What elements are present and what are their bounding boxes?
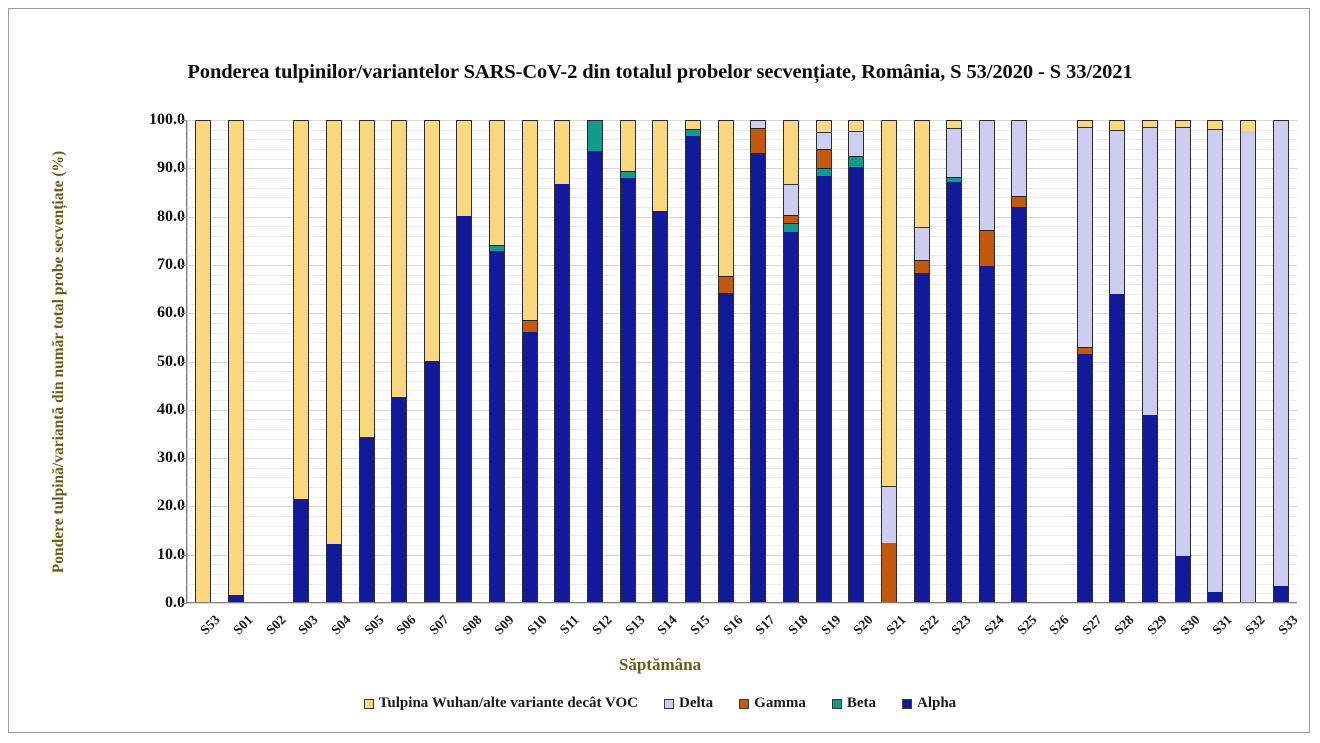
legend-item-wuhan[interactable]: Tulpina Wuhan/alte variante decât VOC	[364, 695, 638, 712]
bar-column	[1068, 120, 1101, 603]
legend-label: Gamma	[754, 695, 806, 712]
y-tick-mark	[181, 120, 187, 121]
stacked-bar[interactable]	[1240, 120, 1256, 603]
bar-segment-gamma	[784, 215, 798, 223]
bar-segment-gamma	[523, 320, 537, 332]
bar-column	[938, 120, 971, 603]
y-tick-mark	[181, 265, 187, 266]
stacked-bar[interactable]	[620, 120, 636, 603]
bar-segment-tulpina-wuhan	[882, 120, 896, 486]
bar-segment-beta	[784, 223, 798, 231]
stacked-bar[interactable]	[587, 120, 603, 603]
legend-label: Tulpina Wuhan/alte variante decât VOC	[379, 695, 638, 712]
bar-column	[579, 120, 612, 603]
stacked-bar[interactable]	[718, 120, 734, 603]
bar-segment-alpha	[980, 266, 994, 602]
bar-segment-delta	[1274, 120, 1288, 586]
bar-segment-beta	[588, 120, 602, 151]
stacked-bar[interactable]	[685, 120, 701, 603]
bar-segment-alpha	[719, 293, 733, 602]
bar-segment-alpha	[1274, 586, 1288, 602]
bar-column	[1134, 120, 1167, 603]
bar-segment-delta	[849, 131, 863, 157]
bar-segment-beta	[621, 171, 635, 179]
bar-segment-delta	[1241, 131, 1255, 602]
bar-column	[1264, 120, 1297, 603]
bar-segment-delta	[1208, 129, 1222, 592]
bar-column	[873, 120, 906, 603]
bar-segment-delta	[751, 120, 765, 128]
stacked-bar[interactable]	[979, 120, 995, 603]
bar-segment-tulpina-wuhan	[1110, 120, 1124, 130]
bar-column	[448, 120, 481, 603]
bar-segment-tulpina-wuhan	[1176, 120, 1190, 127]
bar-segment-alpha	[523, 332, 537, 602]
legend-swatch-icon	[739, 699, 749, 709]
legend-label: Alpha	[917, 695, 956, 712]
bar-segment-alpha	[621, 178, 635, 602]
bar-segment-gamma	[1012, 196, 1026, 207]
bar-segment-tulpina-wuhan	[849, 120, 863, 131]
bar-segment-gamma	[1078, 347, 1092, 355]
bar-segment-alpha	[360, 437, 374, 602]
y-tick-label: 40.0	[115, 401, 185, 419]
bar-segment-alpha	[1012, 207, 1026, 602]
legend-swatch-icon	[832, 699, 842, 709]
bar-segment-delta	[784, 184, 798, 215]
bar-segment-alpha	[751, 153, 765, 602]
stacked-bar[interactable]	[1011, 120, 1027, 603]
bar-segment-tulpina-wuhan	[1241, 120, 1255, 131]
bar-column	[1232, 120, 1265, 603]
bar-segment-alpha	[457, 216, 471, 602]
legend-item-gamma[interactable]: Gamma	[739, 695, 806, 712]
y-tick-mark	[181, 458, 187, 459]
bar-segment-alpha	[653, 211, 667, 602]
bar-column	[1101, 120, 1134, 603]
y-tick-label: 100.0	[115, 111, 185, 129]
bar-segment-tulpina-wuhan	[392, 120, 406, 397]
bar-segment-tulpina-wuhan	[817, 120, 831, 132]
stacked-bar[interactable]	[326, 120, 342, 603]
y-tick-label: 60.0	[115, 304, 185, 322]
stacked-bar[interactable]	[195, 120, 211, 603]
bar-segment-delta	[1143, 127, 1157, 415]
bar-column	[1166, 120, 1199, 603]
bar-segment-alpha	[1110, 294, 1124, 602]
stacked-bar[interactable]	[1273, 120, 1289, 603]
y-tick-label: 80.0	[115, 208, 185, 226]
bar-segment-alpha	[947, 182, 961, 602]
bar-segment-tulpina-wuhan	[196, 121, 210, 602]
y-tick-label: 90.0	[115, 159, 185, 177]
bar-segment-delta	[980, 120, 994, 230]
bar-segment-gamma	[817, 149, 831, 167]
bar-segment-alpha	[588, 151, 602, 602]
legend-swatch-icon	[902, 699, 912, 709]
bar-segment-alpha	[1176, 556, 1190, 602]
stacked-bar[interactable]	[848, 120, 864, 603]
bar-segment-tulpina-wuhan	[621, 120, 635, 171]
y-tick-label: 20.0	[115, 497, 185, 515]
bar-segment-alpha	[490, 251, 504, 602]
bar-segment-alpha	[229, 595, 243, 602]
bar-segment-beta	[849, 156, 863, 167]
stacked-bar[interactable]	[652, 120, 668, 603]
bar-segment-delta	[915, 227, 929, 260]
chart-legend: Tulpina Wuhan/alte variante decât VOCDel…	[9, 695, 1311, 712]
bar-segment-alpha	[392, 397, 406, 602]
bar-column	[350, 120, 383, 603]
bar-column	[1003, 120, 1036, 603]
bar-segment-tulpina-wuhan	[490, 120, 504, 245]
bar-segment-alpha	[555, 184, 569, 602]
bar-segment-tulpina-wuhan	[523, 120, 537, 320]
y-tick-label: 30.0	[115, 449, 185, 467]
y-tick-label: 70.0	[115, 256, 185, 274]
bar-segment-tulpina-wuhan	[425, 120, 439, 361]
y-axis-label: Pondere tulpină/variantă din număr total…	[47, 142, 71, 582]
y-tick-mark	[181, 362, 187, 363]
y-tick-mark	[181, 217, 187, 218]
y-tick-mark	[181, 603, 187, 604]
legend-label: Delta	[679, 695, 713, 712]
bar-segment-delta	[882, 486, 896, 543]
bar-segment-tulpina-wuhan	[1078, 120, 1092, 127]
bar-segment-alpha	[817, 176, 831, 602]
bar-column	[807, 120, 840, 603]
stacked-bar[interactable]	[1175, 120, 1191, 603]
bar-column	[742, 120, 775, 603]
bar-segment-beta	[817, 168, 831, 176]
bar-column	[775, 120, 808, 603]
bar-column	[220, 120, 253, 603]
y-tick-label: 0.0	[115, 594, 185, 612]
bar-segment-tulpina-wuhan	[1143, 120, 1157, 127]
stacked-bar[interactable]	[881, 120, 897, 603]
bar-segment-delta	[947, 128, 961, 177]
legend-item-beta[interactable]: Beta	[832, 695, 876, 712]
bar-column	[1036, 120, 1069, 603]
stacked-bar[interactable]	[424, 120, 440, 603]
chart-title: Ponderea tulpinilor/variantelor SARS-CoV…	[9, 61, 1311, 84]
x-axis-label: Săptămâna	[9, 655, 1311, 675]
bar-segment-tulpina-wuhan	[457, 120, 471, 216]
stacked-bar[interactable]	[228, 120, 244, 603]
bar-segment-gamma	[719, 276, 733, 292]
bar-column	[383, 120, 416, 603]
bar-segment-tulpina-wuhan	[653, 120, 667, 211]
bar-segment-alpha	[425, 361, 439, 602]
stacked-bar[interactable]	[456, 120, 472, 603]
bar-segment-tulpina-wuhan	[1208, 120, 1222, 129]
bar-segment-alpha	[849, 167, 863, 602]
bar-segment-gamma	[751, 128, 765, 153]
bar-column	[546, 120, 579, 603]
bar-segment-delta	[1110, 130, 1124, 294]
stacked-bar[interactable]	[391, 120, 407, 603]
bar-segment-alpha	[294, 499, 308, 602]
bar-column	[481, 120, 514, 603]
plot-area: 0.010.020.030.040.050.060.070.080.090.01…	[187, 120, 1297, 603]
bar-column	[644, 120, 677, 603]
stacked-bar[interactable]	[359, 120, 375, 603]
bar-column	[840, 120, 873, 603]
bar-segment-alpha	[327, 544, 341, 602]
bar-segment-tulpina-wuhan	[294, 120, 308, 499]
stacked-bar[interactable]	[293, 120, 309, 603]
bar-column	[513, 120, 546, 603]
bar-column	[709, 120, 742, 603]
bar-segment-alpha	[1143, 415, 1157, 602]
y-tick-mark	[181, 410, 187, 411]
bar-segment-alpha	[1208, 592, 1222, 602]
y-tick-mark	[181, 506, 187, 507]
stacked-bar[interactable]	[1109, 120, 1125, 603]
y-tick-label: 50.0	[115, 353, 185, 371]
stacked-bar[interactable]	[783, 120, 799, 603]
stacked-bar[interactable]	[522, 120, 538, 603]
bar-segment-alpha	[1078, 354, 1092, 602]
legend-swatch-icon	[364, 699, 374, 709]
bar-segment-delta	[1078, 127, 1092, 347]
stacked-bar[interactable]	[1142, 120, 1158, 603]
bar-column	[285, 120, 318, 603]
bar-segment-gamma	[882, 543, 896, 602]
stacked-bar[interactable]	[946, 120, 962, 603]
bar-column	[905, 120, 938, 603]
chart-frame: Ponderea tulpinilor/variantelor SARS-CoV…	[8, 8, 1310, 733]
bar-column	[416, 120, 449, 603]
stacked-bar[interactable]	[816, 120, 832, 603]
bar-segment-alpha	[686, 136, 700, 602]
bar-segment-tulpina-wuhan	[719, 120, 733, 276]
gridline	[187, 603, 1297, 604]
legend-item-delta[interactable]: Delta	[664, 695, 713, 712]
bar-segment-tulpina-wuhan	[360, 120, 374, 437]
y-tick-label: 10.0	[115, 546, 185, 564]
bar-column	[677, 120, 710, 603]
bar-segment-gamma	[980, 230, 994, 266]
bar-column	[1199, 120, 1232, 603]
stacked-bar[interactable]	[1077, 120, 1093, 603]
bar-column	[611, 120, 644, 603]
bar-segment-alpha	[784, 232, 798, 602]
bar-segment-tulpina-wuhan	[784, 120, 798, 184]
bar-segment-alpha	[915, 273, 929, 602]
bar-column	[187, 120, 220, 603]
bar-column	[318, 120, 351, 603]
stacked-bar[interactable]	[554, 120, 570, 603]
y-tick-mark	[181, 555, 187, 556]
legend-swatch-icon	[664, 699, 674, 709]
stacked-bar[interactable]	[914, 120, 930, 603]
bar-segment-tulpina-wuhan	[229, 120, 243, 595]
y-tick-mark	[181, 313, 187, 314]
y-tick-mark	[181, 168, 187, 169]
bar-segment-beta	[686, 129, 700, 136]
bar-segment-tulpina-wuhan	[555, 120, 569, 184]
bar-column	[971, 120, 1004, 603]
bar-segment-delta	[817, 132, 831, 150]
bar-segment-delta	[1176, 127, 1190, 557]
bar-segment-tulpina-wuhan	[947, 120, 961, 128]
stacked-bar[interactable]	[489, 120, 505, 603]
x-axis-line	[187, 602, 1297, 603]
bar-segment-tulpina-wuhan	[327, 120, 341, 544]
bar-segment-tulpina-wuhan	[915, 120, 929, 227]
bar-segment-gamma	[915, 260, 929, 274]
stacked-bar[interactable]	[750, 120, 766, 603]
bar-segment-delta	[1012, 120, 1026, 196]
stacked-bar[interactable]	[1207, 120, 1223, 603]
legend-item-alpha[interactable]: Alpha	[902, 695, 956, 712]
legend-label: Beta	[847, 695, 876, 712]
bar-segment-tulpina-wuhan	[686, 120, 700, 129]
bar-column	[252, 120, 285, 603]
